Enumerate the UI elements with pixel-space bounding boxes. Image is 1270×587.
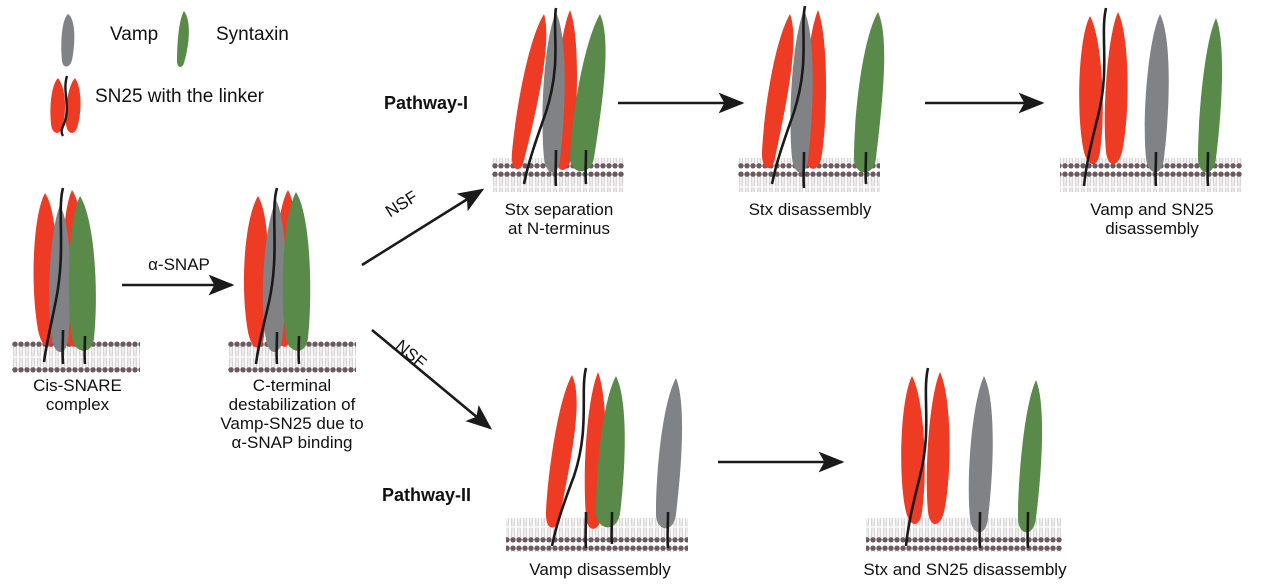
caption-stx-separation-n-terminus: Stx separation at N-terminus — [484, 200, 634, 238]
caption-vamp-disassembly: Vamp disassembly — [510, 560, 690, 579]
caption-line: Stx and SN25 disassembly — [854, 560, 1076, 579]
legend-icon-sn25 — [50, 76, 80, 136]
caption-stx-and-sn25-disassembly: Stx and SN25 disassembly — [854, 560, 1076, 579]
caption-stx-disassembly: Stx disassembly — [730, 200, 890, 219]
arrow-nsf-lower — [372, 330, 490, 428]
pathway-2-label: Pathway-II — [382, 485, 512, 505]
state-c-terminal-destabilization — [228, 188, 356, 373]
caption-line: α-SNAP binding — [204, 433, 380, 452]
caption-line: Vamp and SN25 — [1066, 200, 1238, 219]
caption-line: complex — [0, 395, 155, 414]
caption-line: at N-terminus — [484, 219, 634, 238]
legend-label-syntaxin: Syntaxin — [216, 24, 289, 46]
legend-icon-syntaxin — [177, 11, 189, 67]
caption-line: Stx disassembly — [730, 200, 890, 219]
state-vamp-disassembly — [506, 368, 688, 552]
legend-label-sn25: SN25 with the linker — [95, 86, 264, 108]
legend-icon-vamp — [61, 14, 74, 67]
caption-line: Vamp disassembly — [510, 560, 690, 579]
caption-line: Cis-SNARE — [0, 376, 155, 395]
caption-c-terminal-destabilization: C-terminal destabilization of Vamp-SN25 … — [204, 376, 380, 452]
state-stx-separation-n-terminus — [492, 8, 624, 192]
caption-line: Stx separation — [484, 200, 634, 219]
state-vamp-and-sn25-disassembly — [1060, 8, 1242, 192]
arrow-nsf-upper — [362, 190, 482, 265]
caption-line: destabilization of — [204, 395, 380, 414]
state-stx-disassembly — [738, 6, 884, 192]
caption-line: disassembly — [1066, 219, 1238, 238]
state-cis-snare-complex — [12, 188, 140, 373]
diagram-canvas: Vamp Syntaxin SN25 with the linker Pathw… — [0, 0, 1270, 587]
caption-line: C-terminal — [204, 376, 380, 395]
caption-vamp-and-sn25-disassembly: Vamp and SN25 disassembly — [1066, 200, 1238, 238]
arrow-label-alpha-snap: α-SNAP — [124, 255, 234, 274]
legend-label-vamp: Vamp — [110, 24, 158, 46]
caption-cis-snare-complex: Cis-SNARE complex — [0, 376, 155, 414]
state-stx-and-sn25-disassembly — [866, 368, 1062, 552]
caption-line: Vamp-SN25 due to — [204, 414, 380, 433]
pathway-1-label: Pathway-I — [384, 93, 504, 113]
